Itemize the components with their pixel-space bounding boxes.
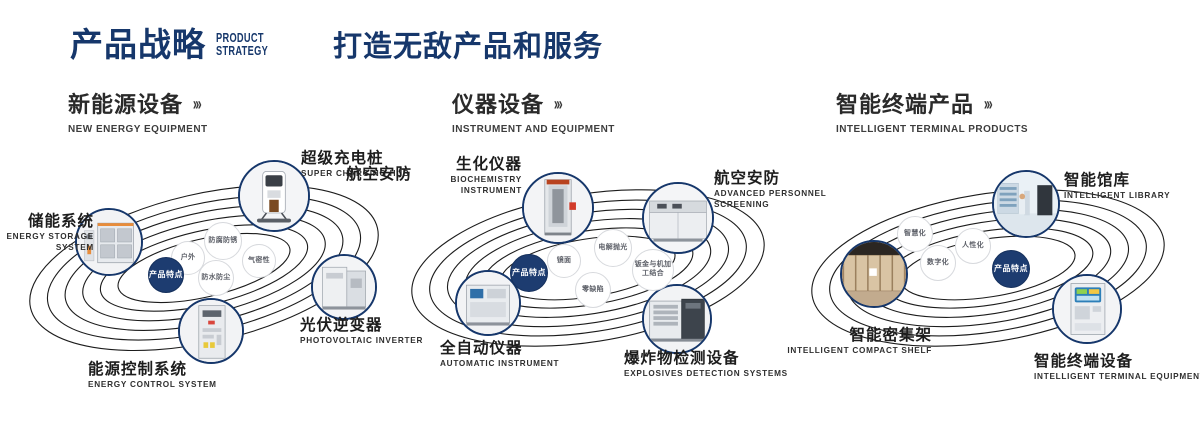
product-photo-advanced-personnel-screening[interactable] <box>642 182 714 254</box>
page-title: 产品战略 <box>70 28 206 61</box>
product-label-aviation-security-left: 航空安防 <box>322 166 412 185</box>
product-label-cn: 智能馆库 <box>1064 172 1200 189</box>
feature-bubble: 数字化 <box>920 245 956 281</box>
product-label-cn: 储能系统 <box>0 213 94 230</box>
cluster-new-energy: 户外 防腐防锈 防水防尘 气密性 产品特点 储能系统 ENERGY STORAG… <box>8 150 408 420</box>
product-label-biochemistry-instrument: 生化仪器 BIOCHEMISTRY INSTRUMENT <box>412 156 522 197</box>
product-label-en: INTELLIGENT TERMINAL EQUIPMENT <box>1034 372 1200 383</box>
chevron-right-icon: ››› <box>984 95 991 116</box>
chevron-right-icon: ››› <box>554 95 561 116</box>
feature-bubble: 气密性 <box>242 244 276 278</box>
product-photo-explosives-detection[interactable] <box>642 284 712 354</box>
feature-bubble: 人性化 <box>955 228 991 264</box>
feature-bubble: 零缺陷 <box>575 272 611 308</box>
product-photo-energy-control-system[interactable] <box>178 298 244 364</box>
product-label-intelligent-library: 智能馆库 INTELLIGENT LIBRARY <box>1064 172 1200 202</box>
section-title-cn: 智能终端产品 <box>836 93 974 117</box>
section-title-en: NEW ENERGY EQUIPMENT <box>68 123 208 135</box>
brand-lockup: 产品战略 PRODUCT STRATEGY <box>70 28 286 61</box>
section-heading-instrument: 仪器设备 ››› INSTRUMENT AND EQUIPMENT <box>452 93 623 135</box>
section-title-cn: 仪器设备 <box>452 93 544 117</box>
section-heading-intelligent-terminal: 智能终端产品 ››› INTELLIGENT TERMINAL PRODUCTS <box>836 93 1038 135</box>
product-label-en: EXPLOSIVES DETECTION SYSTEMS <box>624 369 804 380</box>
product-label-en: ENERGY STORAGE SYSTEM <box>0 232 94 253</box>
product-label-cn: 生化仪器 <box>412 156 522 173</box>
product-label-intelligent-terminal-equipment: 智能终端设备 INTELLIGENT TERMINAL EQUIPMENT <box>1034 353 1200 383</box>
product-label-cn: 能源控制系统 <box>88 361 258 378</box>
page-header: 产品战略 PRODUCT STRATEGY 打造无敌产品和服务 <box>0 0 1200 86</box>
product-label-intelligent-compact-shelf: 智能密集架 INTELLIGENT COMPACT SHELF <box>772 327 932 357</box>
product-feature-badge: 产品特点 <box>510 254 548 292</box>
chevron-right-icon: ››› <box>193 95 200 116</box>
page-title-en: PRODUCT STRATEGY <box>216 32 268 59</box>
product-label-cn: 航空安防 <box>322 166 412 183</box>
product-label-energy-storage: 储能系统 ENERGY STORAGE SYSTEM <box>0 213 94 254</box>
product-photo-intelligent-terminal-equipment[interactable] <box>1052 274 1122 344</box>
product-label-automatic-instrument: 全自动仪器 AUTOMATIC INSTRUMENT <box>440 340 590 370</box>
section-title-en: INTELLIGENT TERMINAL PRODUCTS <box>836 123 1028 135</box>
product-label-cn: 全自动仪器 <box>440 340 590 357</box>
product-label-en: AUTOMATIC INSTRUMENT <box>440 359 590 370</box>
product-label-cn: 智能终端设备 <box>1034 353 1200 370</box>
feature-bubble: 电解抛光 <box>594 229 632 267</box>
feature-bubble: 防腐防锈 <box>204 222 242 260</box>
product-photo-biochemistry-instrument[interactable] <box>522 172 594 244</box>
product-photo-photovoltaic-inverter[interactable] <box>311 254 377 320</box>
product-photo-intelligent-library[interactable] <box>992 170 1060 238</box>
section-title-cn: 新能源设备 <box>68 93 183 117</box>
product-label-en: BIOCHEMISTRY INSTRUMENT <box>412 175 522 196</box>
cluster-instrument: 镜面 电解抛光 钣金与机加工结合 零缺陷 产品特点 航空安防 生化仪器 BIOC… <box>392 150 792 420</box>
product-feature-badge: 产品特点 <box>148 257 184 293</box>
product-strategy-infographic: 产品战略 PRODUCT STRATEGY 打造无敌产品和服务 新能源设备 ››… <box>0 0 1200 422</box>
cluster-intelligent-terminal: 智慧化 数字化 人性化 产品特点 智能馆库 INTELLIGENT LIBRAR… <box>792 150 1192 420</box>
feature-bubble: 智慧化 <box>897 216 933 252</box>
feature-bubble: 镜面 <box>547 244 581 278</box>
product-label-en: INTELLIGENT COMPACT SHELF <box>772 346 932 357</box>
product-photo-charging-hub[interactable] <box>238 160 310 232</box>
section-title-en: INSTRUMENT AND EQUIPMENT <box>452 123 615 135</box>
feature-bubble: 钣金与机加工结合 <box>632 249 674 291</box>
product-label-en: INTELLIGENT LIBRARY <box>1064 191 1200 202</box>
product-feature-badge: 产品特点 <box>992 250 1030 288</box>
product-photo-intelligent-compact-shelf[interactable] <box>840 240 908 308</box>
product-label-cn: 智能密集架 <box>772 327 932 344</box>
headline: 打造无敌产品和服务 <box>333 33 603 62</box>
product-label-en: ENERGY CONTROL SYSTEM <box>88 380 258 391</box>
section-heading-new-energy: 新能源设备 ››› NEW ENERGY EQUIPMENT <box>68 93 215 135</box>
feature-bubble: 防水防尘 <box>198 260 234 296</box>
product-label-energy-control-system: 能源控制系统 ENERGY CONTROL SYSTEM <box>88 361 258 391</box>
